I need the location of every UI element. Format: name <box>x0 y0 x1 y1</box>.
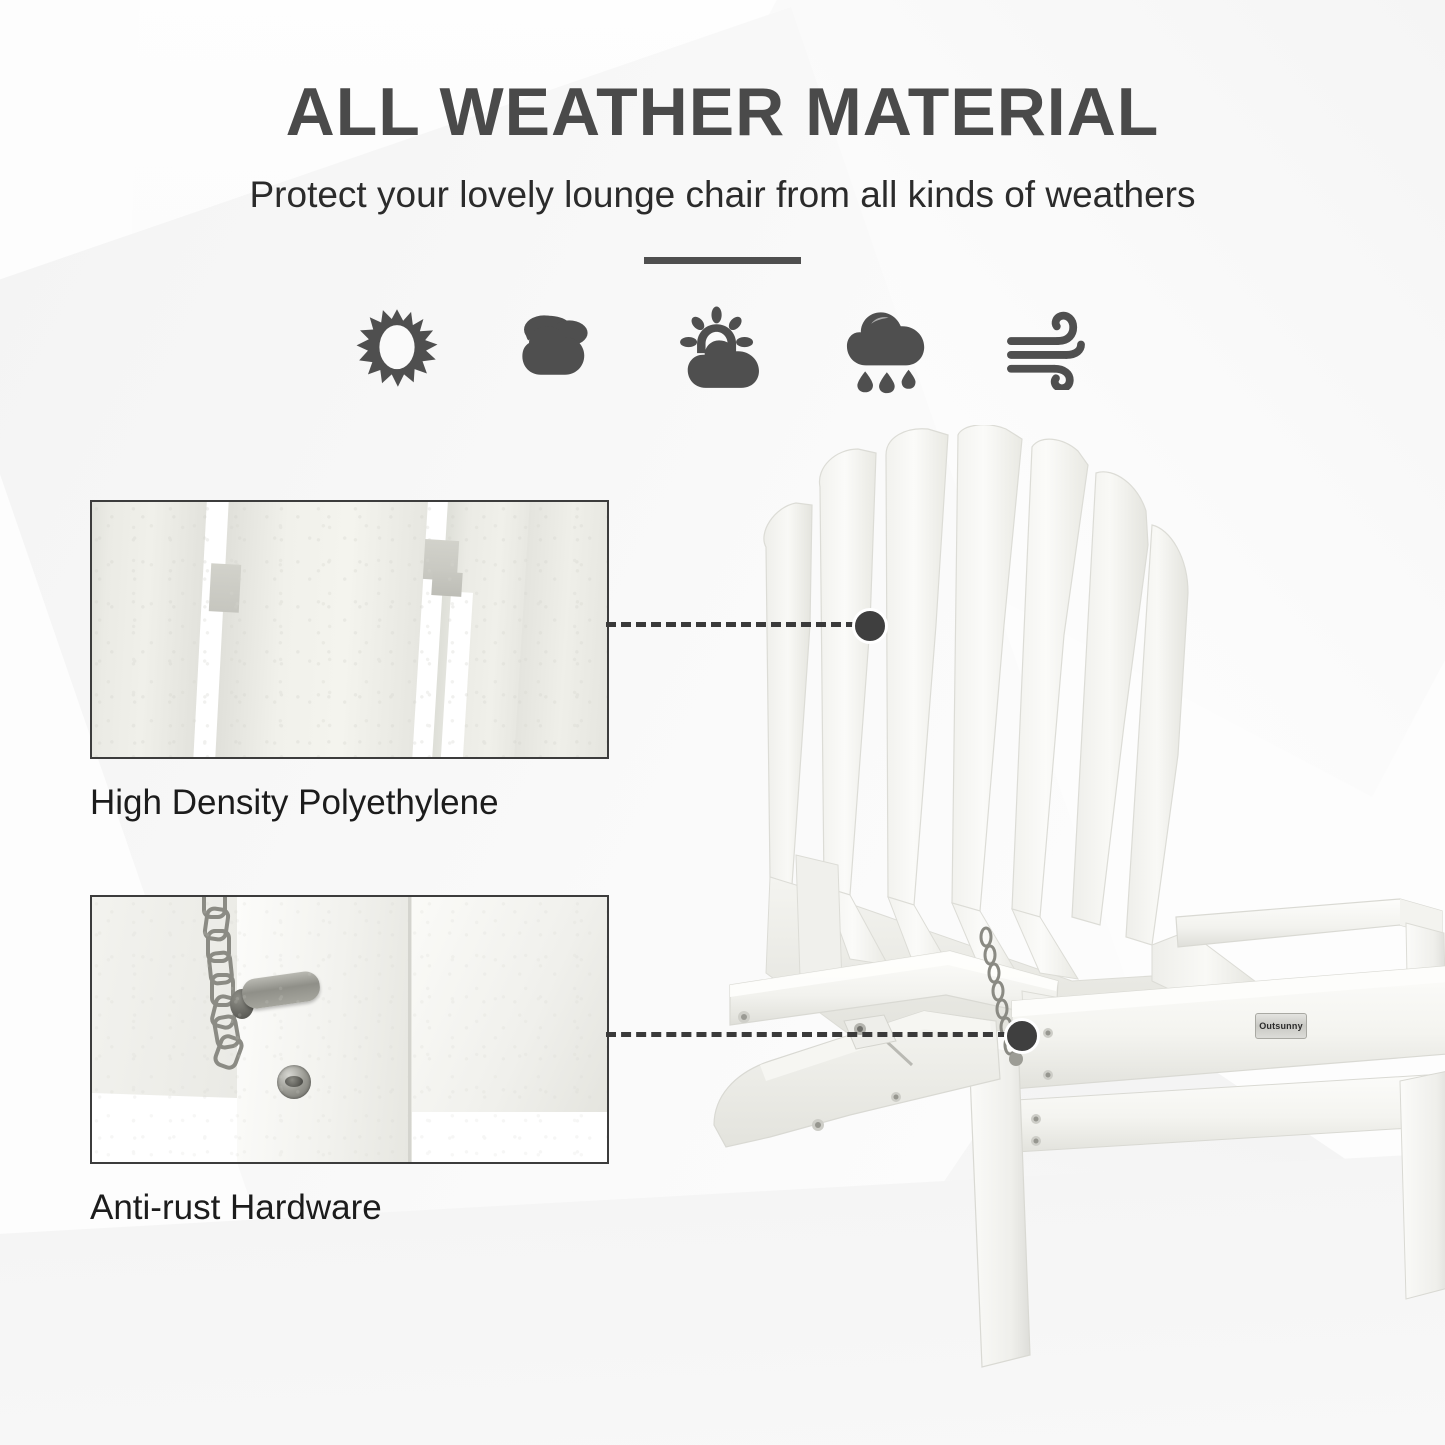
brand-badge-text: Outsunny <box>1259 1021 1303 1031</box>
product-image-adirondack-chair <box>700 425 1445 1385</box>
wind-icon <box>1001 300 1096 395</box>
brand-badge: Outsunny <box>1255 1013 1307 1039</box>
rain-icon <box>838 300 933 395</box>
photo-hdpe-detail <box>90 500 609 759</box>
caption-hardware: Anti-rust Hardware <box>90 1164 609 1225</box>
photo-hardware-detail <box>90 895 609 1164</box>
callout-high-density-polyethylene: High Density Polyethylene <box>90 500 609 820</box>
page-subtitle: Protect your lovely lounge chair from al… <box>0 146 1445 213</box>
cloudy-icon <box>512 300 607 395</box>
title-divider <box>644 257 801 264</box>
infographic-canvas: ALL WEATHER MATERIAL Protect your lovely… <box>0 0 1445 1445</box>
callout-anti-rust-hardware: Anti-rust Hardware <box>90 895 609 1225</box>
connector-hardware-marker <box>1004 1018 1040 1054</box>
page-title: ALL WEATHER MATERIAL <box>0 0 1445 146</box>
header-block: ALL WEATHER MATERIAL Protect your lovely… <box>0 0 1445 269</box>
sun-icon <box>349 300 444 395</box>
connector-hdpe-line <box>606 622 856 627</box>
weather-icon-row <box>0 300 1445 395</box>
caption-hdpe: High Density Polyethylene <box>90 759 609 820</box>
connector-hdpe-marker <box>852 608 888 644</box>
connector-hardware-line <box>606 1032 1008 1037</box>
divider-wrap <box>0 213 1445 269</box>
partly-sunny-icon <box>675 300 770 395</box>
